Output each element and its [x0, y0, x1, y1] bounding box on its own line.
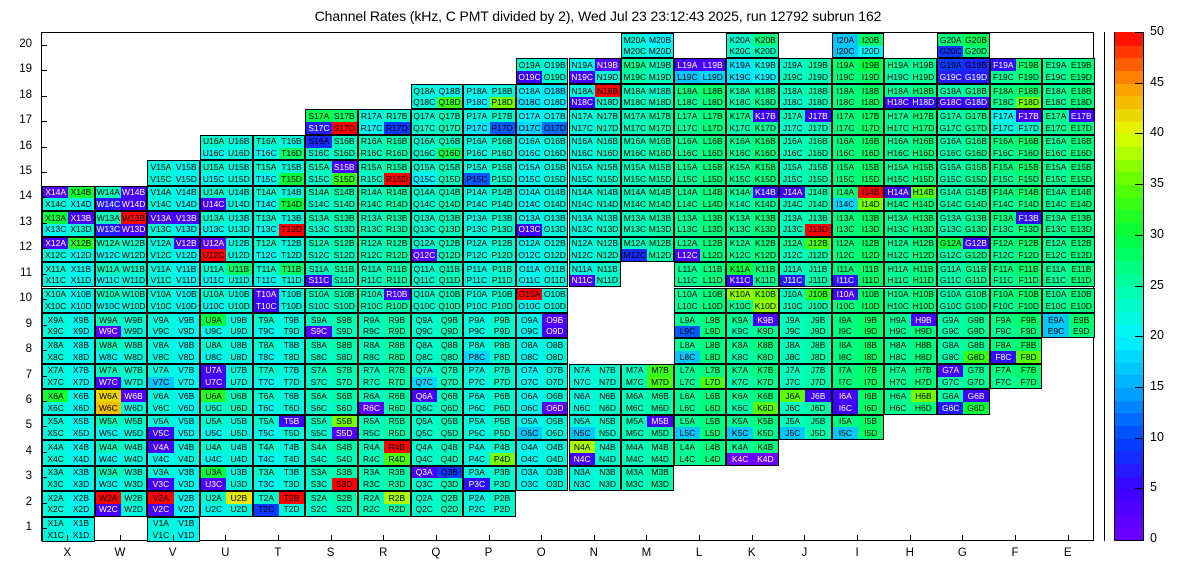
channel-label: Q2D	[437, 504, 462, 516]
channel-label: Q12A	[412, 238, 437, 250]
heatmap-cell: J19AJ19BJ19CJ19D	[779, 58, 832, 83]
channel-label: V12D	[174, 249, 199, 261]
channel-label: E18C	[1043, 97, 1068, 109]
channel-label: Q3B	[437, 467, 462, 479]
channel-label: J5C	[780, 427, 805, 439]
heatmap-cell: N15AN15BN15CN15D	[569, 160, 622, 185]
colorbar-tick-label: 35	[1150, 177, 1164, 190]
channel-label: O13C	[517, 224, 542, 236]
channel-label: N13D	[595, 224, 620, 236]
channel-label: R6C	[359, 402, 384, 414]
heatmap-cell: K20AK20BK20CK20D	[726, 33, 779, 58]
heatmap-cell: L4AL4BL4CL4D	[674, 440, 727, 465]
x-axis-tick	[541, 535, 542, 541]
channel-label: K16B	[753, 136, 778, 148]
channel-label: J17B	[805, 110, 830, 122]
channel-label: L4C	[675, 453, 700, 465]
channel-label: T4D	[279, 453, 304, 465]
channel-label: X10D	[68, 300, 93, 312]
heatmap-cell: V5AV5BV5CV5D	[147, 415, 200, 440]
channel-label: G6B	[963, 390, 988, 402]
channel-label: H9D	[911, 326, 936, 338]
channel-label: W13A	[96, 212, 121, 224]
channel-label: O18C	[517, 97, 542, 109]
heatmap-cell: E19AE19BE19CE19D	[1042, 58, 1095, 83]
channel-label: G17A	[938, 110, 963, 122]
heatmap-cell: R13AR13BR13CR13D	[358, 211, 411, 236]
channel-label: G12C	[938, 249, 963, 261]
channel-label: N12B	[595, 238, 620, 250]
heatmap-cell: H6AH6BH6CH6D	[884, 389, 937, 414]
channel-label: G19A	[938, 59, 963, 71]
channel-label: Q2C	[412, 504, 437, 516]
channel-label: T12D	[279, 249, 304, 261]
channel-label: S10C	[306, 300, 331, 312]
channel-label: V8D	[174, 351, 199, 363]
heatmap-cell: P2AP2BP2CP2D	[463, 491, 516, 516]
heatmap-cell: R9AR9BR9CR9D	[358, 313, 411, 338]
channel-label: L14A	[675, 187, 700, 199]
heatmap-cell: J14AJ14BJ14CJ14D	[779, 186, 832, 211]
channel-label: V10A	[148, 289, 173, 301]
channel-label: U16B	[226, 136, 251, 148]
channel-label: S8C	[306, 351, 331, 363]
channel-label: F12C	[991, 249, 1016, 261]
channel-label: I6A	[833, 390, 858, 402]
x-axis-tick	[331, 535, 332, 541]
channel-label: S12D	[332, 249, 357, 261]
channel-label: P15D	[490, 173, 515, 185]
channel-label: L13A	[675, 212, 700, 224]
channel-label: U8B	[226, 339, 251, 351]
x-axis-tick	[120, 535, 121, 541]
channel-label: T13B	[279, 212, 304, 224]
channel-label: S16C	[306, 148, 331, 160]
x-axis-tick	[699, 535, 700, 541]
channel-label: Q13C	[412, 224, 437, 236]
channel-label: M7B	[647, 365, 672, 377]
channel-label: E11C	[1043, 275, 1068, 287]
channel-label: E13C	[1043, 224, 1068, 236]
channel-label: O9A	[517, 314, 542, 326]
channel-label: K7B	[753, 365, 778, 377]
channel-label: R8C	[359, 351, 384, 363]
channel-label: Q4C	[412, 453, 437, 465]
x-axis-label: X	[37, 548, 97, 560]
channel-label: M15C	[622, 173, 647, 185]
channel-label: U9B	[226, 314, 251, 326]
channel-label: N17D	[595, 122, 620, 134]
channel-label: M12A	[622, 238, 647, 250]
channel-label: N7B	[595, 365, 620, 377]
heatmap-cell: N5AN5BN5CN5D	[569, 415, 622, 440]
colorbar-tick	[1135, 133, 1144, 134]
channel-label: H17A	[885, 110, 910, 122]
channel-label: K9D	[753, 326, 778, 338]
channel-label: R11D	[384, 275, 409, 287]
channel-label: V8C	[148, 351, 173, 363]
channel-label: S12C	[306, 249, 331, 261]
channel-label: K6A	[727, 390, 752, 402]
y-axis-label: 2	[6, 497, 32, 509]
channel-label: S15C	[306, 173, 331, 185]
channel-label: S14A	[306, 187, 331, 199]
heatmap-cell-layer: M20AM20BM20CM20DK20AK20BK20CK20DI20AI20B…	[42, 33, 1093, 540]
channel-label: J12B	[805, 238, 830, 250]
channel-label: X6D	[68, 402, 93, 414]
channel-label: P4B	[490, 441, 515, 453]
channel-label: O7A	[517, 365, 542, 377]
channel-label: Q18D	[437, 97, 462, 109]
y-axis-tick	[41, 147, 47, 148]
heatmap-cell: J5AJ5BJ5CJ5D	[779, 415, 832, 440]
channel-label: J5D	[805, 427, 830, 439]
channel-label: S7A	[306, 365, 331, 377]
x-axis-tick	[857, 535, 858, 541]
heatmap-cell: K6AK6BK6CK6D	[726, 389, 779, 414]
channel-label: O3B	[542, 467, 567, 479]
heatmap-cell: H14AH14BH14CH14D	[884, 186, 937, 211]
channel-label: O8C	[517, 351, 542, 363]
channel-label: J14A	[780, 187, 805, 199]
heatmap-cell: V15AV15BV15CV15D	[147, 160, 200, 185]
channel-label: N4C	[570, 453, 595, 465]
channel-label: U14A	[201, 187, 226, 199]
channel-label: O5C	[517, 427, 542, 439]
channel-label: O7D	[542, 377, 567, 389]
channel-label: O12D	[542, 249, 567, 261]
channel-label: P14A	[464, 187, 489, 199]
channel-label: I5A	[833, 416, 858, 428]
channel-label: L14D	[700, 198, 725, 210]
channel-label: I11B	[858, 263, 883, 275]
channel-label: W9D	[121, 326, 146, 338]
channel-label: V5C	[148, 427, 173, 439]
heatmap-cell: G20AG20BG20CG20D	[937, 33, 990, 58]
heatmap-cell: T5AT5BT5CT5D	[253, 415, 306, 440]
heatmap-cell: X3AX3BX3CX3D	[42, 466, 95, 491]
heatmap-cell: J7AJ7BJ7CJ7D	[779, 364, 832, 389]
channel-label: S17D	[332, 122, 357, 134]
channel-label: H16C	[885, 148, 910, 160]
y-axis-label: 12	[6, 242, 32, 254]
channel-label: X8B	[68, 339, 93, 351]
channel-label: T3C	[254, 478, 279, 490]
channel-label: H7A	[885, 365, 910, 377]
channel-label: L8B	[700, 339, 725, 351]
channel-label: G19B	[963, 59, 988, 71]
channel-label: K8B	[753, 339, 778, 351]
channel-label: K16D	[753, 148, 778, 160]
channel-label: Q12D	[437, 249, 462, 261]
heatmap-cell: T16AT16BT16CT16D	[253, 135, 306, 160]
heatmap-cell: L5AL5BL5CL5D	[674, 415, 727, 440]
channel-label: U14B	[226, 187, 251, 199]
channel-label: G9C	[938, 326, 963, 338]
channel-label: V9D	[174, 326, 199, 338]
channel-label: I14B	[858, 187, 883, 199]
channel-label: H19C	[885, 71, 910, 83]
heatmap-cell: S6AS6BS6CS6D	[305, 389, 358, 414]
channel-label: X7C	[43, 377, 68, 389]
channel-label: X11C	[43, 275, 68, 287]
channel-label: Q6A	[412, 390, 437, 402]
channel-label: P12D	[490, 249, 515, 261]
heatmap-cell: O13AO13BO13CO13D	[516, 211, 569, 236]
channel-label: J17A	[780, 110, 805, 122]
channel-label: G17D	[963, 122, 988, 134]
channel-label: K8A	[727, 339, 752, 351]
channel-label: G11A	[938, 263, 963, 275]
heatmap-cell: I18AI18BI18CI18D	[832, 84, 885, 109]
channel-label: X3C	[43, 478, 68, 490]
heatmap-cell: L15AL15BL15CL15D	[674, 160, 727, 185]
channel-label: L12D	[700, 249, 725, 261]
channel-label: K9A	[727, 314, 752, 326]
channel-label: X12B	[68, 238, 93, 250]
heatmap-cell: H17AH17BH17CH17D	[884, 109, 937, 134]
channel-label: K12B	[753, 238, 778, 250]
channel-label: N14A	[570, 187, 595, 199]
channel-label: M16D	[647, 148, 672, 160]
channel-label: M6C	[622, 402, 647, 414]
channel-label: K10B	[753, 289, 778, 301]
heatmap-cell: J17AJ17BJ17CJ17D	[779, 109, 832, 134]
channel-label: H14B	[911, 187, 936, 199]
heatmap-cell: O15AO15BO15CO15D	[516, 160, 569, 185]
heatmap-cell: K15AK15BK15CK15D	[726, 160, 779, 185]
channel-label: M13D	[647, 224, 672, 236]
channel-label: H8C	[885, 351, 910, 363]
channel-label: R17C	[359, 122, 384, 134]
channel-label: M12B	[647, 238, 672, 250]
channel-label: H8A	[885, 339, 910, 351]
channel-label: G15C	[938, 173, 963, 185]
channel-label: F13A	[991, 212, 1016, 224]
channel-label: T15C	[254, 173, 279, 185]
heatmap-cell: N12AN12BN12CN12D	[569, 237, 622, 262]
channel-label: E14A	[1043, 187, 1068, 199]
channel-label: E9B	[1069, 314, 1094, 326]
heatmap-cell: R2AR2BR2CR2D	[358, 491, 411, 516]
channel-label: P10D	[490, 300, 515, 312]
heatmap-cell: U11AU11BU11CU11D	[200, 262, 253, 287]
channel-label: U5B	[226, 416, 251, 428]
heatmap-cell: O10AO10BO10CO10D	[516, 288, 569, 313]
channel-label: J7A	[780, 365, 805, 377]
y-axis-tick	[41, 172, 47, 173]
channel-label: H11C	[885, 275, 910, 287]
channel-label: Q10A	[412, 289, 437, 301]
x-axis-label: E	[1038, 548, 1098, 560]
heatmap-cell: U16AU16BU16CU16D	[200, 135, 253, 160]
channel-label: R7A	[359, 365, 384, 377]
channel-label: M6D	[647, 402, 672, 414]
heatmap-cell: O4AO4BO4CO4D	[516, 440, 569, 465]
channel-label: N13A	[570, 212, 595, 224]
heatmap-cell: U12AU12BU12CU12D	[200, 237, 253, 262]
heatmap-cell: F12AF12BF12CF12D	[990, 237, 1043, 262]
channel-label: S2C	[306, 504, 331, 516]
channel-label: N3A	[570, 467, 595, 479]
heatmap-cell: L8AL8BL8CL8D	[674, 338, 727, 363]
channel-label: M7A	[622, 365, 647, 377]
x-axis-label: I	[827, 548, 887, 560]
channel-label: K5B	[753, 416, 778, 428]
channel-label: V7A	[148, 365, 173, 377]
channel-label: F17C	[991, 122, 1016, 134]
channel-label: L6B	[700, 390, 725, 402]
channel-label: J6C	[780, 402, 805, 414]
channel-label: R17B	[384, 110, 409, 122]
channel-label: V3C	[148, 478, 173, 490]
heatmap-cell: V4AV4BV4CV4D	[147, 440, 200, 465]
heatmap-cell: W12AW12BW12CW12D	[95, 237, 148, 262]
x-axis-tick	[752, 535, 753, 541]
channel-label: U6C	[201, 402, 226, 414]
heatmap-cell: N17AN17BN17CN17D	[569, 109, 622, 134]
heatmap-cell: I14AI14BI14CI14D	[832, 186, 885, 211]
channel-label: E11D	[1069, 275, 1094, 287]
heatmap-cell: V10AV10BV10CV10D	[147, 288, 200, 313]
channel-label: E14C	[1043, 198, 1068, 210]
channel-label: L6C	[675, 402, 700, 414]
channel-label: U6D	[226, 402, 251, 414]
heatmap-cell: L6AL6BL6CL6D	[674, 389, 727, 414]
heatmap-cell: I9AI9BI9CI9D	[832, 313, 885, 338]
channel-label: Q16C	[412, 148, 437, 160]
channel-label: M4C	[622, 453, 647, 465]
channel-label: I20B	[858, 34, 883, 46]
channel-label: M14A	[622, 187, 647, 199]
channel-label: R8B	[384, 339, 409, 351]
channel-label: S11A	[306, 263, 331, 275]
heatmap-cell: Q3AQ3BQ3CQ3D	[411, 466, 464, 491]
channel-label: K18C	[727, 97, 752, 109]
channel-label: J19B	[805, 59, 830, 71]
channel-label: E18D	[1069, 97, 1094, 109]
heatmap-cell: E10AE10BE10CE10D	[1042, 288, 1095, 313]
channel-label: F9D	[1016, 326, 1041, 338]
channel-label: X10C	[43, 300, 68, 312]
heatmap-cell: T7AT7BT7CT7D	[253, 364, 306, 389]
channel-label: H18D	[911, 97, 936, 109]
channel-label: E12D	[1069, 249, 1094, 261]
channel-label: H7C	[885, 377, 910, 389]
channel-label: Q17B	[437, 110, 462, 122]
channel-label: Q2A	[412, 492, 437, 504]
channel-label: L10B	[700, 289, 725, 301]
channel-label: L19A	[675, 59, 700, 71]
channel-label: X6B	[68, 390, 93, 402]
channel-label: E12B	[1069, 238, 1094, 250]
heatmap-cell: G19AG19BG19CG19D	[937, 58, 990, 83]
channel-label: R13D	[384, 224, 409, 236]
heatmap-cell: T6AT6BT6CT6D	[253, 389, 306, 414]
channel-label: G11B	[963, 263, 988, 275]
channel-label: N3C	[570, 478, 595, 490]
channel-label: K19C	[727, 71, 752, 83]
channel-label: V10C	[148, 300, 173, 312]
channel-label: N7C	[570, 377, 595, 389]
channel-label: Q8C	[412, 351, 437, 363]
channel-label: H11A	[885, 263, 910, 275]
channel-label: F16B	[1016, 136, 1041, 148]
channel-label: V10B	[174, 289, 199, 301]
channel-label: H7D	[911, 377, 936, 389]
channel-label: U2C	[201, 504, 226, 516]
channel-label: W4B	[121, 441, 146, 453]
channel-label: P7A	[464, 365, 489, 377]
x-axis-label: G	[932, 548, 992, 560]
channel-label: U4D	[226, 453, 251, 465]
heatmap-cell: Q12AQ12BQ12CQ12D	[411, 237, 464, 262]
channel-label: E13A	[1043, 212, 1068, 224]
channel-label: O15D	[542, 173, 567, 185]
channel-label: K17B	[753, 110, 778, 122]
heatmap-cell: O16AO16BO16CO16D	[516, 135, 569, 160]
channel-label: T8D	[279, 351, 304, 363]
heatmap-cell: I8AI8BI8CI8D	[832, 338, 885, 363]
heatmap-cell: T15AT15BT15CT15D	[253, 160, 306, 185]
channel-label: T15A	[254, 161, 279, 173]
channel-label: Q8A	[412, 339, 437, 351]
page-title: Channel Rates (kHz, C PMT divided by 2),…	[0, 8, 1196, 24]
channel-label: X5C	[43, 427, 68, 439]
channel-label: W6D	[121, 402, 146, 414]
channel-label: O16B	[542, 136, 567, 148]
channel-label: S4D	[332, 453, 357, 465]
channel-label: T10C	[254, 300, 279, 312]
channel-label: G17C	[938, 122, 963, 134]
x-axis-tick	[1068, 535, 1069, 541]
channel-label: F13D	[1016, 224, 1041, 236]
heatmap-cell: U7AU7BU7CU7D	[200, 364, 253, 389]
heatmap-cell: T9AT9BT9CT9D	[253, 313, 306, 338]
channel-label: S15D	[332, 173, 357, 185]
channel-label: M4D	[647, 453, 672, 465]
channel-label: I13C	[833, 224, 858, 236]
channel-label: M18C	[622, 97, 647, 109]
channel-label: O4C	[517, 453, 542, 465]
channel-label: G20B	[963, 34, 988, 46]
channel-label: I20A	[833, 34, 858, 46]
channel-label: N18C	[570, 97, 595, 109]
channel-label: I7C	[833, 377, 858, 389]
channel-label: I5D	[858, 427, 883, 439]
channel-label: T16C	[254, 148, 279, 160]
channel-label: V2B	[174, 492, 199, 504]
channel-label: P12A	[464, 238, 489, 250]
channel-label: S17B	[332, 110, 357, 122]
channel-label: T14D	[279, 198, 304, 210]
x-axis-label: R	[353, 548, 413, 560]
channel-label: I10D	[858, 300, 883, 312]
channel-label: K14C	[727, 198, 752, 210]
channel-label: H8D	[911, 351, 936, 363]
channel-label: O4A	[517, 441, 542, 453]
channel-label: E12C	[1043, 249, 1068, 261]
channel-label: L16D	[700, 148, 725, 160]
colorbar-tick-label: 15	[1150, 380, 1164, 393]
channel-label: R8D	[384, 351, 409, 363]
heatmap-cell: M16AM16BM16CM16D	[621, 135, 674, 160]
channel-label: P18C	[464, 97, 489, 109]
heatmap-cell: K10AK10BK10CK10D	[726, 288, 779, 313]
channel-label: G6D	[963, 402, 988, 414]
heatmap-cell: T2AT2BT2CT2D	[253, 491, 306, 516]
channel-label: K4A	[727, 441, 752, 453]
